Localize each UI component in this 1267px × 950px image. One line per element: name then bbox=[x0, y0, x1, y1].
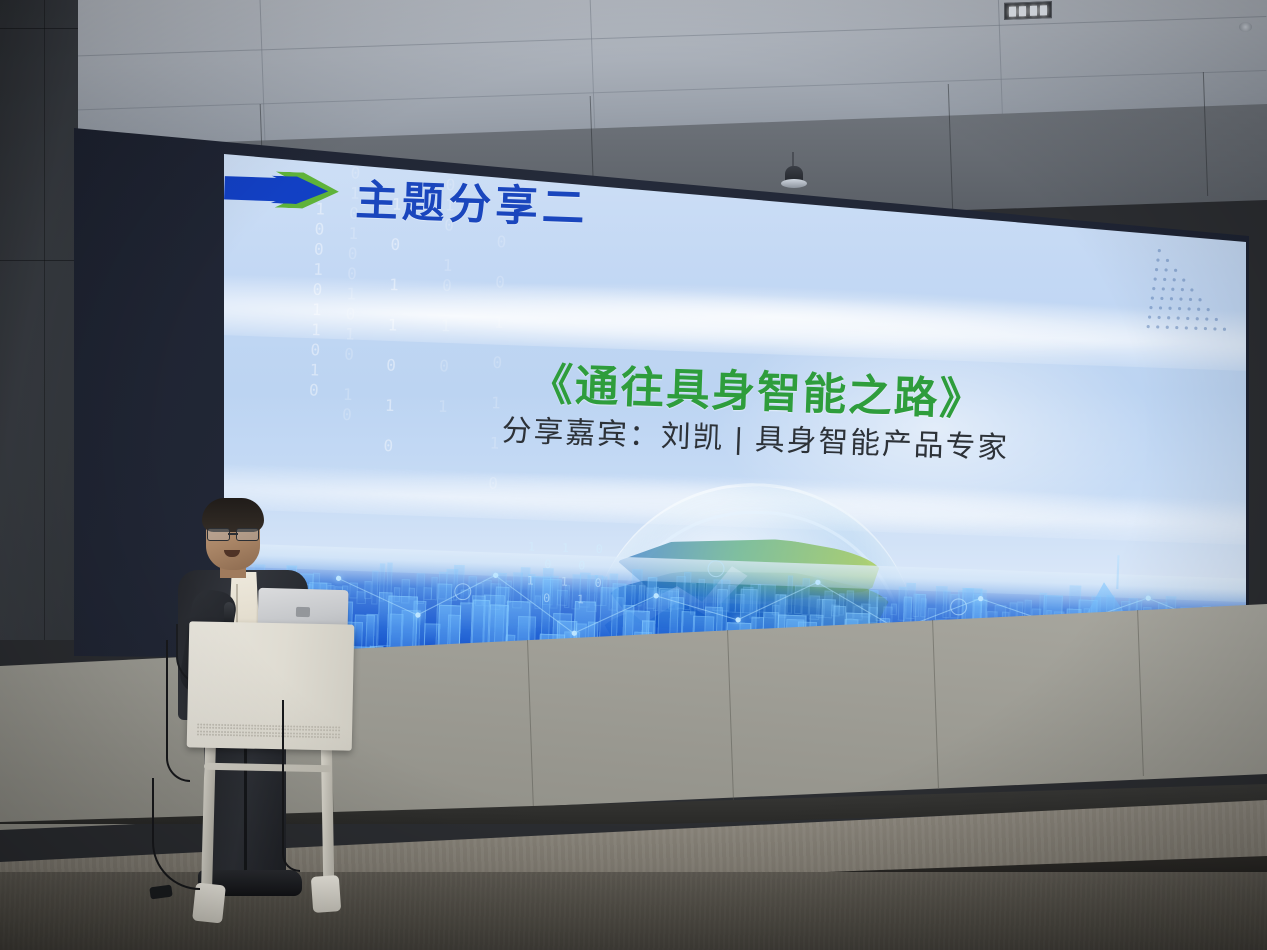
perforation-dot bbox=[224, 734, 226, 736]
perforation-dot bbox=[218, 731, 220, 733]
perforation-dot bbox=[305, 729, 307, 731]
grid-dot bbox=[1178, 307, 1181, 310]
grid-dot bbox=[1205, 317, 1208, 320]
grid-dot bbox=[1190, 288, 1193, 291]
eyeglasses-icon bbox=[207, 528, 259, 539]
perforation-dot bbox=[248, 728, 250, 730]
grid-dot bbox=[1196, 317, 1199, 320]
grid-dot bbox=[1166, 326, 1169, 329]
perforation-dot bbox=[278, 735, 280, 737]
grid-dot bbox=[1181, 288, 1184, 291]
perforation-dot bbox=[209, 724, 211, 726]
perforation-dot bbox=[254, 735, 256, 737]
perforation-dot bbox=[197, 734, 199, 736]
perforation-dot bbox=[275, 728, 277, 730]
grid-dot bbox=[1154, 277, 1157, 280]
grid-dot bbox=[1173, 278, 1176, 281]
grid-dot bbox=[1213, 327, 1216, 330]
perforation-dot bbox=[311, 733, 313, 735]
perforation-dot bbox=[278, 729, 280, 731]
perforation-dot bbox=[329, 736, 331, 738]
grid-dot bbox=[1185, 326, 1188, 329]
perforation-dot bbox=[221, 724, 223, 726]
perforation-dot bbox=[302, 732, 304, 734]
perforation-dot bbox=[230, 734, 232, 736]
perforation-dot bbox=[263, 732, 265, 734]
grid-dot bbox=[1174, 269, 1177, 272]
perforation-dot bbox=[272, 735, 274, 737]
perforation-dot bbox=[233, 728, 235, 730]
perforation-dot bbox=[314, 729, 316, 731]
perforation-dot bbox=[320, 736, 322, 738]
grid-dot bbox=[1157, 316, 1160, 319]
perforation-dot bbox=[230, 731, 232, 733]
perforation-dot bbox=[338, 733, 340, 735]
perforation-dot bbox=[335, 730, 337, 732]
perforation-dot bbox=[233, 724, 235, 726]
perforation-dot bbox=[323, 736, 325, 738]
perforation-dot bbox=[209, 727, 211, 729]
perforation-dot bbox=[239, 735, 241, 737]
grid-dot bbox=[1223, 328, 1226, 331]
perforation-dot bbox=[230, 728, 232, 730]
perforation-dot bbox=[326, 730, 328, 732]
perforation-dot bbox=[248, 731, 250, 733]
grid-dot bbox=[1163, 278, 1166, 281]
perforation-dot bbox=[332, 726, 334, 728]
perforation-dot bbox=[227, 724, 229, 726]
perforation-dot bbox=[266, 735, 268, 737]
perforation-dot bbox=[329, 730, 331, 732]
perforation-dot bbox=[251, 725, 253, 727]
perforation-dot bbox=[215, 734, 217, 736]
perforation-dot bbox=[242, 724, 244, 726]
perforation-dot bbox=[233, 731, 235, 733]
perforation-dot bbox=[221, 727, 223, 729]
perforation-dot bbox=[323, 730, 325, 732]
perforation-dot bbox=[218, 724, 220, 726]
perforation-dot bbox=[239, 731, 241, 733]
perforation-dot bbox=[332, 733, 334, 735]
grid-dot bbox=[1166, 259, 1169, 262]
grid-dot bbox=[1175, 326, 1178, 329]
perforation-dot bbox=[221, 734, 223, 736]
perforation-dot bbox=[212, 731, 214, 733]
perforation-dot bbox=[203, 724, 205, 726]
perforation-dot bbox=[254, 731, 256, 733]
perforation-dot bbox=[302, 726, 304, 728]
left-wall bbox=[0, 0, 78, 640]
perforation-dot bbox=[269, 728, 271, 730]
perforation-dot bbox=[314, 726, 316, 728]
perforation-dot bbox=[227, 727, 229, 729]
perforation-dot bbox=[257, 735, 259, 737]
grid-dot bbox=[1159, 306, 1162, 309]
grid-dot bbox=[1197, 308, 1200, 311]
perforation-dot bbox=[257, 728, 259, 730]
grid-dot bbox=[1168, 307, 1171, 310]
perforation-dot bbox=[227, 734, 229, 736]
city-binary-digit: 1 bbox=[560, 575, 567, 589]
perforation-dot bbox=[266, 725, 268, 727]
grid-dot bbox=[1170, 297, 1173, 300]
perforation-dot bbox=[317, 729, 319, 731]
city-binary-digit: 1 bbox=[528, 540, 535, 554]
perforation-dot bbox=[269, 725, 271, 727]
perforation-dot bbox=[212, 727, 214, 729]
perforation-dot bbox=[332, 736, 334, 738]
grid-dot bbox=[1156, 325, 1159, 328]
perforation-dot bbox=[263, 725, 265, 727]
grid-dot bbox=[1186, 317, 1189, 320]
grid-dot bbox=[1198, 298, 1201, 301]
podium-foot bbox=[311, 875, 341, 913]
ceiling-light-fixture bbox=[1004, 1, 1052, 20]
presenter-hair bbox=[202, 498, 264, 532]
spotlight-fixture bbox=[781, 166, 807, 190]
perforation-dot bbox=[266, 732, 268, 734]
perforation-dot bbox=[251, 728, 253, 730]
grid-dot bbox=[1171, 288, 1174, 291]
perforation-dot bbox=[197, 723, 199, 725]
perforation-dot bbox=[272, 732, 274, 734]
perforation-dot bbox=[236, 724, 238, 726]
perforation-dot bbox=[206, 727, 208, 729]
grid-dot bbox=[1155, 268, 1158, 271]
perforation-dot bbox=[248, 725, 250, 727]
grid-dot bbox=[1160, 297, 1163, 300]
perforation-dot bbox=[260, 732, 262, 734]
perforation-dot bbox=[323, 726, 325, 728]
perforation-dot bbox=[224, 724, 226, 726]
perforation-dot bbox=[278, 725, 280, 727]
perforation-dot bbox=[269, 735, 271, 737]
perforation-dot bbox=[206, 724, 208, 726]
perforation-dot bbox=[326, 726, 328, 728]
grid-dot bbox=[1177, 316, 1180, 319]
perforation-dot bbox=[239, 728, 241, 730]
perforation-dot bbox=[326, 736, 328, 738]
perforation-dot bbox=[269, 732, 271, 734]
perforation-dot bbox=[239, 724, 241, 726]
perforation-dot bbox=[308, 736, 310, 738]
grid-dot bbox=[1179, 297, 1182, 300]
building bbox=[890, 603, 896, 615]
perforation-dot bbox=[302, 736, 304, 738]
floor-cable bbox=[282, 700, 300, 872]
grid-dot bbox=[1164, 268, 1167, 271]
perforation-dot bbox=[242, 728, 244, 730]
perforation-dot bbox=[224, 731, 226, 733]
perforation-dot bbox=[275, 725, 277, 727]
perforation-dot bbox=[263, 735, 265, 737]
lectern[interactable] bbox=[187, 621, 355, 750]
perforation-dot bbox=[254, 725, 256, 727]
grid-dot bbox=[1182, 278, 1185, 281]
perforation-dot bbox=[305, 733, 307, 735]
perforation-dot bbox=[335, 726, 337, 728]
perforation-dot bbox=[308, 726, 310, 728]
perforation-dot bbox=[212, 734, 214, 736]
perforation-dot bbox=[242, 735, 244, 737]
perforation-dot bbox=[203, 727, 205, 729]
perforation-dot bbox=[251, 731, 253, 733]
perforation-dot bbox=[338, 730, 340, 732]
presenter-shoe bbox=[240, 870, 302, 896]
perforation-dot bbox=[260, 735, 262, 737]
perforation-dot bbox=[230, 724, 232, 726]
perforation-dot bbox=[215, 724, 217, 726]
grid-dot bbox=[1151, 296, 1154, 299]
perforation-dot bbox=[227, 731, 229, 733]
perforation-dot bbox=[308, 729, 310, 731]
perforation-dot bbox=[203, 734, 205, 736]
perforation-dot bbox=[314, 736, 316, 738]
grid-dot bbox=[1207, 308, 1210, 311]
perforation-dot bbox=[314, 733, 316, 735]
perforation-dot bbox=[197, 727, 199, 729]
perforation-dot bbox=[338, 726, 340, 728]
perforation-dot bbox=[311, 736, 313, 738]
conference-room-photo: 01001011010 0101001010 10 1 0 1 1 0 1 0 … bbox=[0, 0, 1267, 950]
perforation-dot bbox=[275, 735, 277, 737]
perforation-dot bbox=[203, 730, 205, 732]
perforation-dot bbox=[320, 733, 322, 735]
perforation-dot bbox=[305, 726, 307, 728]
grid-dot bbox=[1147, 325, 1150, 328]
grid-dot bbox=[1204, 327, 1207, 330]
perforation-dot bbox=[254, 728, 256, 730]
building bbox=[371, 570, 379, 604]
city-binary-digit: 0 bbox=[578, 559, 585, 573]
perforation-dot bbox=[272, 725, 274, 727]
perforation-dot bbox=[311, 726, 313, 728]
perforation-dot bbox=[218, 727, 220, 729]
perforation-dot bbox=[332, 730, 334, 732]
city-binary-digit: 0 bbox=[594, 576, 601, 590]
perforation-dot bbox=[212, 724, 214, 726]
perforation-dot bbox=[236, 728, 238, 730]
perforation-dot bbox=[206, 730, 208, 732]
perforation-dot bbox=[329, 733, 331, 735]
perforation-dot bbox=[242, 731, 244, 733]
perforation-dot bbox=[275, 732, 277, 734]
grid-dot bbox=[1158, 249, 1161, 252]
perforation-dot bbox=[338, 737, 340, 739]
floor-cable bbox=[166, 640, 190, 782]
perforation-dot bbox=[197, 730, 199, 732]
perforation-dot bbox=[248, 735, 250, 737]
ceiling-sprinkler-icon bbox=[1239, 22, 1252, 32]
perforation-dot bbox=[302, 729, 304, 731]
grid-dot bbox=[1189, 298, 1192, 301]
perforation-dot bbox=[308, 733, 310, 735]
grid-dot bbox=[1167, 316, 1170, 319]
city-binary-digit: 0 bbox=[544, 557, 551, 571]
city-binary-digit: 0 bbox=[596, 542, 603, 556]
perforation-dot bbox=[221, 731, 223, 733]
grid-dot bbox=[1187, 307, 1190, 310]
perforation-dot bbox=[329, 726, 331, 728]
grid-dot bbox=[1156, 258, 1159, 261]
grid-dot bbox=[1162, 287, 1165, 290]
grid-dot bbox=[1149, 306, 1152, 309]
city-binary-digit: 1 bbox=[577, 593, 584, 607]
perforation-dot bbox=[260, 728, 262, 730]
perforation-dot bbox=[320, 726, 322, 728]
perforation-dot bbox=[257, 732, 259, 734]
perforation-dot bbox=[305, 736, 307, 738]
grid-dot bbox=[1152, 287, 1155, 290]
perforation-dot bbox=[218, 734, 220, 736]
perforation-dot bbox=[266, 728, 268, 730]
perforation-dot bbox=[215, 731, 217, 733]
perforation-dot bbox=[335, 733, 337, 735]
chevron-arrow-icon bbox=[224, 170, 339, 210]
perforation-dot bbox=[251, 735, 253, 737]
perforation-dot bbox=[320, 729, 322, 731]
perforation-dot bbox=[245, 735, 247, 737]
perforation-dot bbox=[323, 733, 325, 735]
perforation-dot bbox=[206, 734, 208, 736]
perforation-dot bbox=[317, 733, 319, 735]
perforation-dot bbox=[200, 727, 202, 729]
grid-dot bbox=[1148, 315, 1151, 318]
perforation-dot bbox=[236, 731, 238, 733]
perforation-dot bbox=[317, 726, 319, 728]
perforation-dot bbox=[245, 724, 247, 726]
perforation-dot bbox=[272, 728, 274, 730]
perforation-dot bbox=[236, 734, 238, 736]
perforation-dot bbox=[326, 733, 328, 735]
perforation-dot bbox=[260, 725, 262, 727]
perforation-dot bbox=[263, 728, 265, 730]
building bbox=[698, 579, 705, 611]
city-binary-digit: 1 bbox=[562, 541, 569, 555]
perforation-dot bbox=[317, 736, 319, 738]
perforation-dot bbox=[311, 729, 313, 731]
perforation-dot bbox=[209, 734, 211, 736]
perforation-dot bbox=[215, 727, 217, 729]
perforation-dot bbox=[245, 731, 247, 733]
grid-dot bbox=[1194, 327, 1197, 330]
perforation-dot bbox=[200, 734, 202, 736]
dot-grid-decoration bbox=[1146, 249, 1246, 345]
city-binary-digit: 0 bbox=[543, 591, 550, 605]
city-binary-digit: 1 bbox=[527, 574, 534, 588]
building bbox=[690, 583, 696, 615]
perforation-dot bbox=[200, 724, 202, 726]
perforation-dot bbox=[278, 732, 280, 734]
perforation-dot bbox=[335, 737, 337, 739]
perforation-dot bbox=[245, 728, 247, 730]
perforation-dot bbox=[224, 727, 226, 729]
perforation-dot bbox=[209, 731, 211, 733]
perforation-dot bbox=[200, 730, 202, 732]
perforation-dot bbox=[233, 734, 235, 736]
grid-dot bbox=[1215, 318, 1218, 321]
perforation-dot bbox=[257, 725, 259, 727]
laptop-logo-icon bbox=[296, 607, 310, 617]
